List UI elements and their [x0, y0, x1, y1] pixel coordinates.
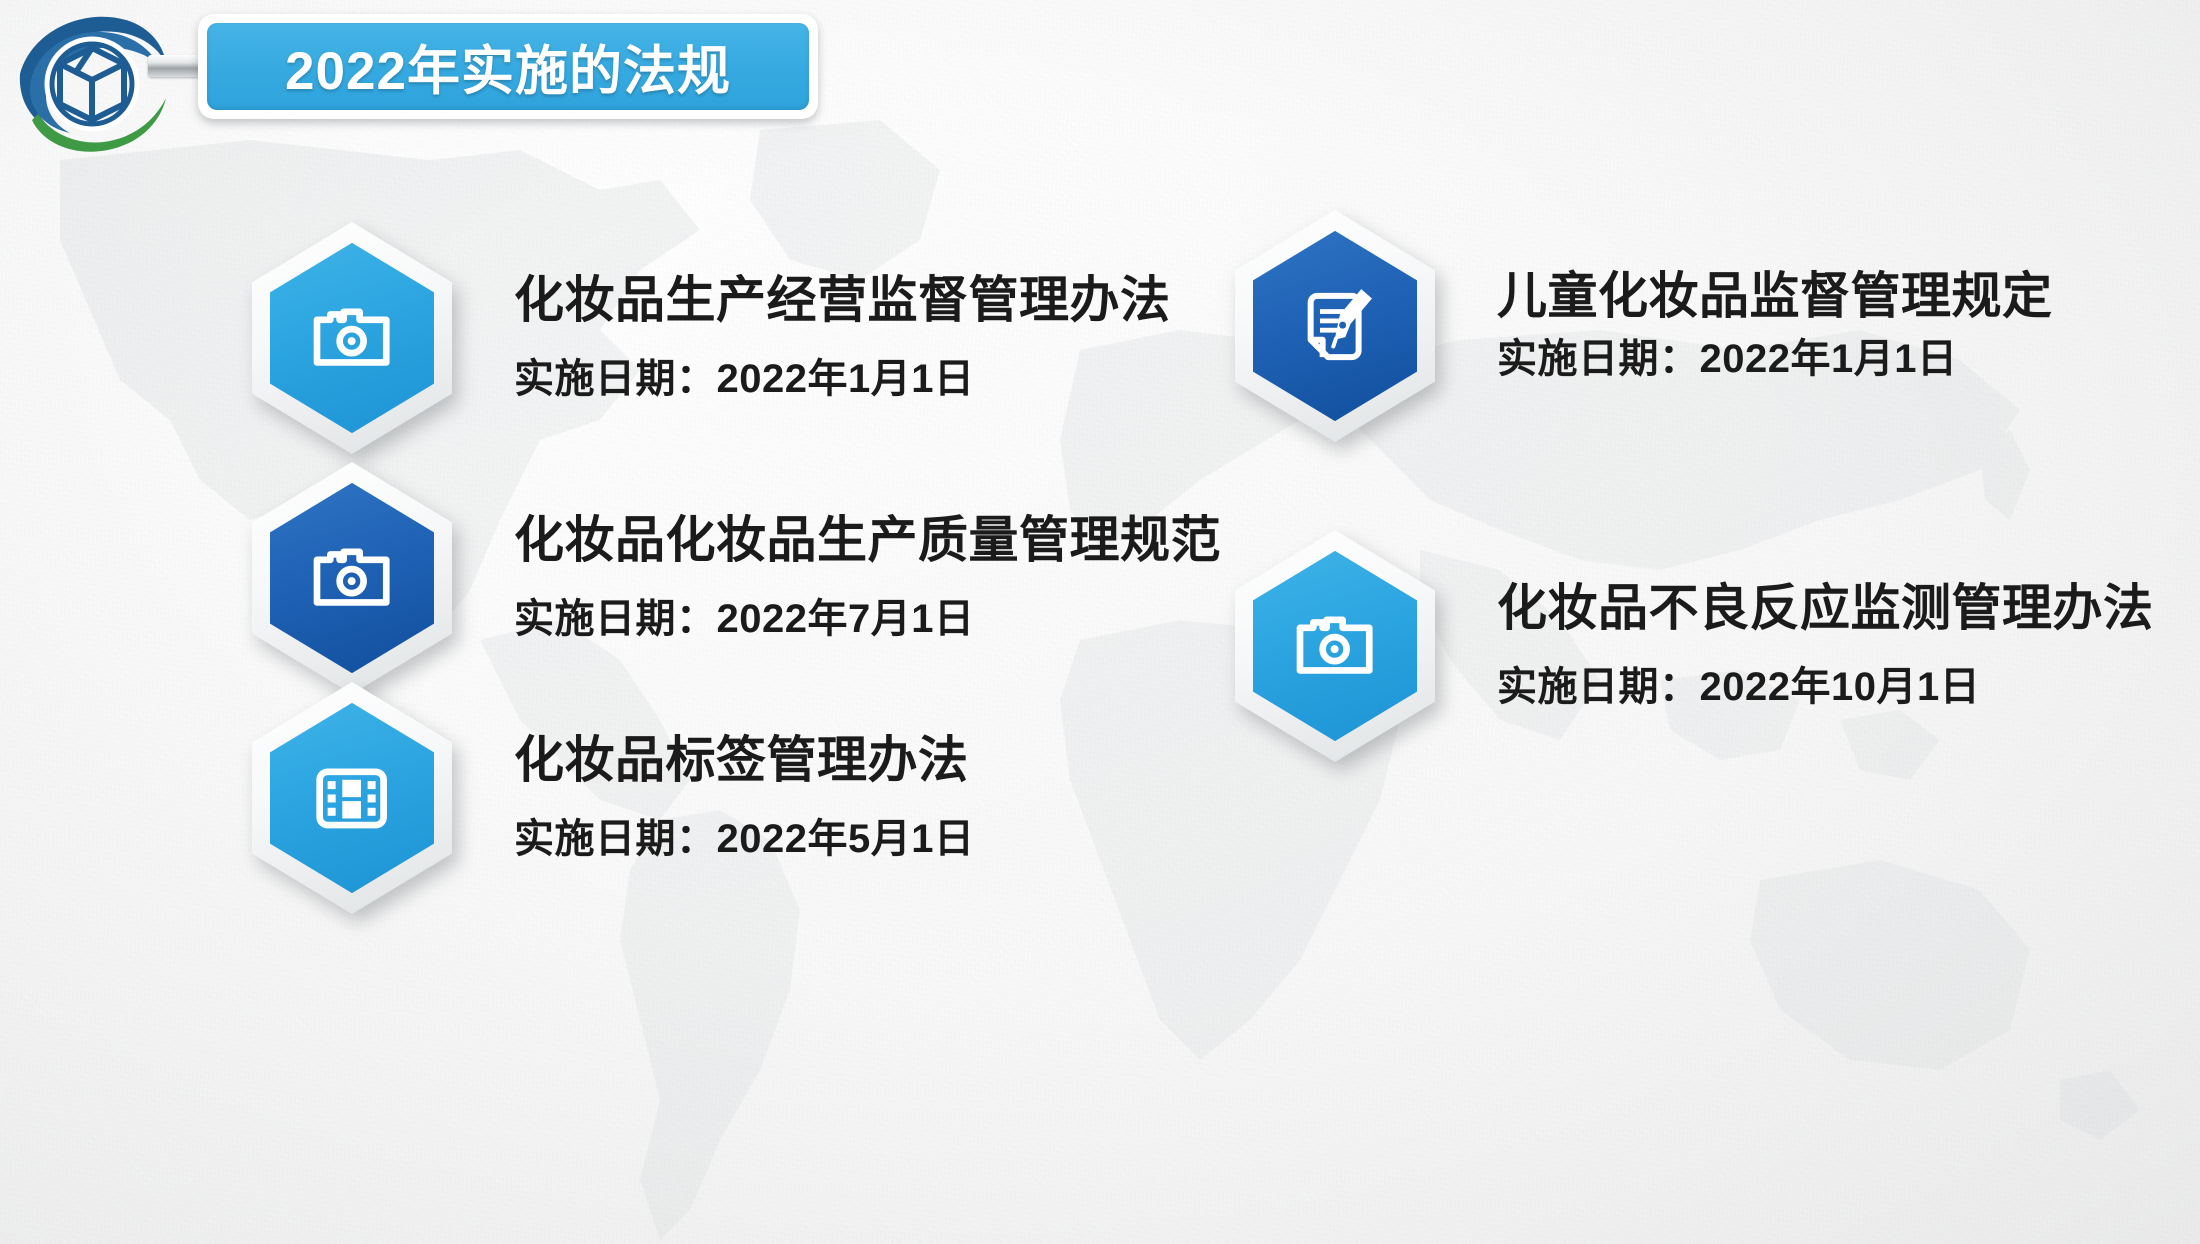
item-date: 实施日期：2022年10月1日 [1497, 660, 2154, 714]
title-banner: 2022年实施的法规 [198, 14, 818, 119]
item-text-block: 儿童化妆品监督管理规定 实施日期：2022年1月1日 [1497, 267, 2053, 386]
regulation-item[interactable]: 化妆品标签管理办法 实施日期：2022年5月1日 [252, 682, 974, 914]
item-text-block: 化妆品标签管理办法 实施日期：2022年5月1日 [514, 731, 974, 866]
item-title: 儿童化妆品监督管理规定 [1497, 267, 2053, 326]
slide-header: 2022年实施的法规 [0, 0, 900, 165]
document-pen-icon [1292, 277, 1377, 376]
regulation-item[interactable]: 化妆品化妆品生产质量管理规范 实施日期：2022年7月1日 [252, 462, 1221, 694]
hex-badge[interactable] [252, 682, 452, 914]
camera-icon [309, 529, 394, 628]
item-text-block: 化妆品化妆品生产质量管理规范 实施日期：2022年7月1日 [514, 511, 1221, 646]
page-title: 2022年实施的法规 [285, 29, 731, 105]
item-date: 实施日期：2022年5月1日 [514, 812, 974, 866]
item-title: 化妆品化妆品生产质量管理规范 [514, 511, 1221, 570]
item-title: 化妆品不良反应监测管理办法 [1497, 579, 2154, 638]
slide-canvas: 2022年实施的法规 化妆品生产经营监督管理办法 实施日期：2022年1月1日 [0, 0, 2200, 1244]
item-text-block: 化妆品不良反应监测管理办法 实施日期：2022年10月1日 [1497, 579, 2154, 714]
item-date: 实施日期：2022年1月1日 [1497, 332, 2053, 386]
hex-badge[interactable] [1235, 210, 1435, 442]
hex-badge[interactable] [252, 462, 452, 694]
camera-icon [1292, 597, 1377, 696]
title-banner-inner: 2022年实施的法规 [207, 23, 809, 110]
item-title: 化妆品标签管理办法 [514, 731, 974, 790]
hex-badge[interactable] [252, 222, 452, 454]
regulation-item[interactable]: 儿童化妆品监督管理规定 实施日期：2022年1月1日 [1235, 210, 2053, 442]
film-strip-icon [309, 749, 394, 848]
camera-icon [309, 289, 394, 388]
item-date: 实施日期：2022年1月1日 [514, 352, 1171, 406]
regulation-item[interactable]: 化妆品不良反应监测管理办法 实施日期：2022年10月1日 [1235, 530, 2154, 762]
item-title: 化妆品生产经营监督管理办法 [514, 271, 1171, 330]
hex-badge[interactable] [1235, 530, 1435, 762]
company-eye-cube-logo [8, 2, 178, 152]
regulation-item[interactable]: 化妆品生产经营监督管理办法 实施日期：2022年1月1日 [252, 222, 1171, 454]
item-text-block: 化妆品生产经营监督管理办法 实施日期：2022年1月1日 [514, 271, 1171, 406]
item-date: 实施日期：2022年7月1日 [514, 592, 1221, 646]
